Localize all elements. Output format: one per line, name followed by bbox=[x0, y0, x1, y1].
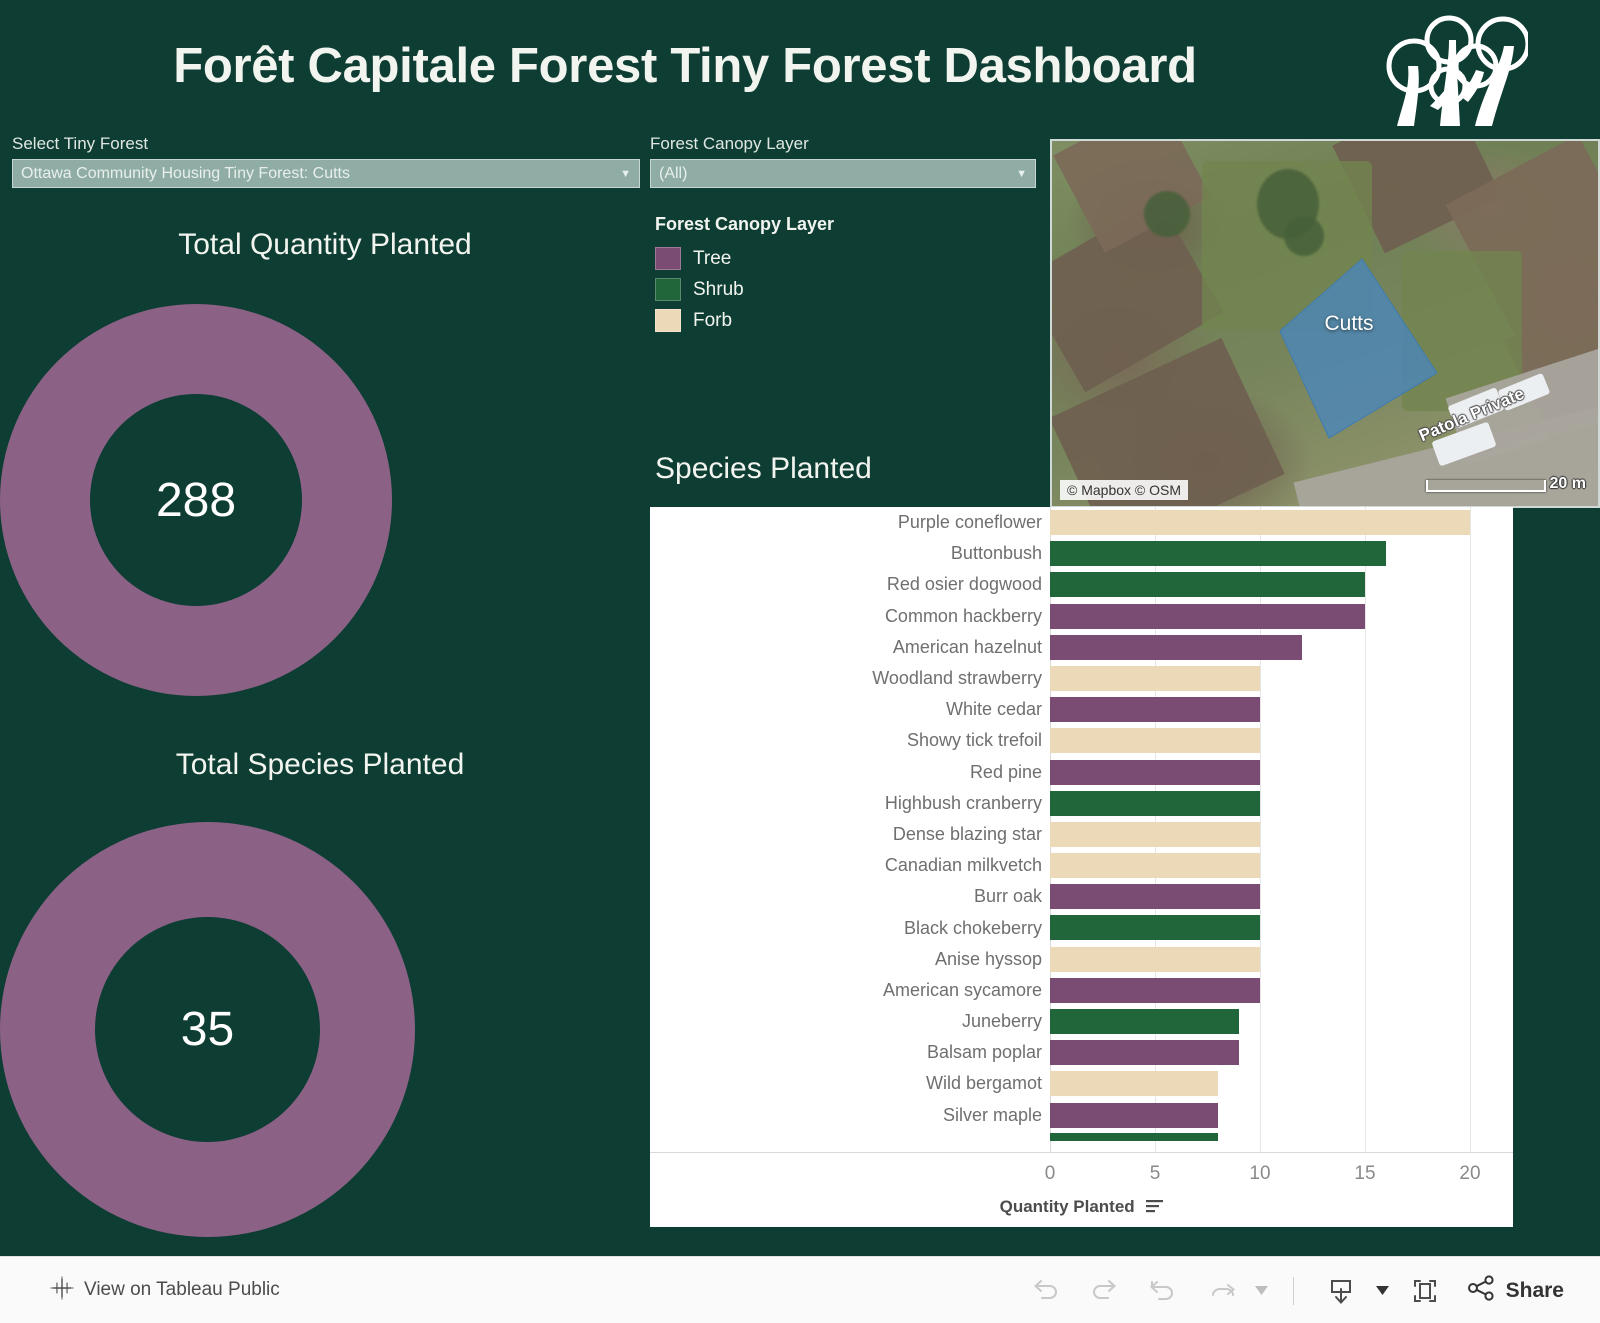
refresh-icon[interactable] bbox=[1191, 1266, 1249, 1316]
bar-shrub[interactable] bbox=[1050, 791, 1260, 816]
bar-category-label: Common hackberry bbox=[650, 606, 1050, 627]
download-icon[interactable] bbox=[1312, 1266, 1370, 1316]
bar-category-label: Balsam poplar bbox=[650, 1042, 1050, 1063]
x-tick-20: 20 bbox=[1459, 1163, 1480, 1185]
bar-forb[interactable] bbox=[1050, 510, 1470, 535]
donut-ring: 288 bbox=[0, 304, 392, 696]
sort-descending-icon[interactable] bbox=[1146, 1198, 1163, 1218]
bar-forb[interactable] bbox=[1050, 947, 1260, 972]
legend-swatch-icon bbox=[655, 278, 681, 301]
bar-category-label: American hazelnut bbox=[650, 637, 1050, 658]
bar-rows: Purple coneflowerButtonbushRed osier dog… bbox=[650, 507, 1513, 1131]
tiny-forest-filter-label: Select Tiny Forest bbox=[12, 134, 640, 154]
bar-row[interactable]: Showy tick trefoil bbox=[650, 725, 1513, 756]
bar-plot-area: Purple coneflowerButtonbushRed osier dog… bbox=[650, 507, 1513, 1152]
color-legend: Forest Canopy Layer TreeShrubForb bbox=[655, 214, 834, 336]
chevron-down-icon: ▼ bbox=[620, 168, 631, 180]
share-label: Share bbox=[1506, 1279, 1564, 1303]
map-attribution[interactable]: © Mapbox © OSM bbox=[1060, 480, 1188, 500]
bar-category-label: American sycamore bbox=[650, 980, 1050, 1001]
bar-row[interactable]: American hazelnut bbox=[650, 632, 1513, 663]
scalebar-line bbox=[1426, 480, 1546, 492]
share-button[interactable]: Share bbox=[1468, 1275, 1564, 1306]
kpi-value: 35 bbox=[181, 1002, 234, 1057]
bar-category-label: Highbush cranberry bbox=[650, 793, 1050, 814]
species-planted-bar-chart[interactable]: Purple coneflowerButtonbushRed osier dog… bbox=[650, 507, 1513, 1227]
canopy-layer-dropdown[interactable]: (All) ▼ bbox=[650, 159, 1036, 188]
bar-category-label: Wild bergamot bbox=[650, 1073, 1050, 1094]
tableau-logo-icon bbox=[50, 1276, 74, 1305]
bar-tree[interactable] bbox=[1050, 978, 1260, 1003]
bar-row[interactable]: Silver maple bbox=[650, 1100, 1513, 1131]
kpi-total-species-planted: Total Species Planted 35 bbox=[0, 748, 640, 1237]
view-on-tableau-public-button[interactable]: View on Tableau Public bbox=[50, 1276, 280, 1305]
bar-category-label: Buttonbush bbox=[650, 543, 1050, 564]
bar-category-label: Burr oak bbox=[650, 886, 1050, 907]
bar-shrub[interactable] bbox=[1050, 572, 1365, 597]
bar-row[interactable]: Juneberry bbox=[650, 1006, 1513, 1037]
legend-item-shrub[interactable]: Shrub bbox=[655, 274, 834, 305]
bar-row[interactable]: Red osier dogwood bbox=[650, 569, 1513, 600]
redo-icon[interactable] bbox=[1075, 1266, 1133, 1316]
legend-item-label: Shrub bbox=[693, 279, 744, 301]
bar-forb[interactable] bbox=[1050, 1071, 1218, 1096]
bar-row[interactable]: Buttonbush bbox=[650, 538, 1513, 569]
bar-tree[interactable] bbox=[1050, 1040, 1239, 1065]
tiny-forest-dropdown-value: Ottawa Community Housing Tiny Forest: Cu… bbox=[21, 165, 614, 183]
kpi-title: Total Species Planted bbox=[0, 748, 640, 782]
bar-row[interactable]: American sycamore bbox=[650, 975, 1513, 1006]
kpi-title: Total Quantity Planted bbox=[0, 228, 650, 262]
donut-chart-quantity[interactable]: 288 bbox=[0, 304, 650, 696]
bar-row[interactable]: Common hackberry bbox=[650, 601, 1513, 632]
canopy-layer-filter: Forest Canopy Layer (All) ▼ bbox=[650, 134, 1036, 188]
bar-row[interactable]: Highbush cranberry bbox=[650, 788, 1513, 819]
toolbar-actions: Share bbox=[1017, 1257, 1564, 1323]
bar-category-label: White cedar bbox=[650, 699, 1050, 720]
bar-category-label: Red osier dogwood bbox=[650, 574, 1050, 595]
legend-swatch-icon bbox=[655, 247, 681, 270]
bar-forb[interactable] bbox=[1050, 666, 1260, 691]
tiny-forest-trees-logo bbox=[1378, 14, 1528, 126]
bar-row[interactable]: Red pine bbox=[650, 757, 1513, 788]
species-chart-title: Species Planted bbox=[655, 452, 872, 486]
bar-category-label: Red pine bbox=[650, 762, 1050, 783]
x-axis-title-text: Quantity Planted bbox=[1000, 1197, 1135, 1216]
donut-hole: 288 bbox=[90, 394, 302, 606]
legend-title: Forest Canopy Layer bbox=[655, 214, 834, 235]
bar-row[interactable]: Burr oak bbox=[650, 881, 1513, 912]
bar-tree[interactable] bbox=[1050, 1103, 1218, 1128]
legend-item-tree[interactable]: Tree bbox=[655, 243, 834, 274]
legend-rows: TreeShrubForb bbox=[655, 243, 834, 336]
bar-clipped-partial[interactable] bbox=[1050, 1133, 1218, 1141]
x-tick-0: 0 bbox=[1045, 1163, 1056, 1185]
x-tick-10: 10 bbox=[1249, 1163, 1270, 1185]
download-chevron-down-icon[interactable] bbox=[1370, 1266, 1396, 1316]
x-axis-title: Quantity Planted bbox=[650, 1197, 1513, 1218]
bar-category-label: Juneberry bbox=[650, 1011, 1050, 1032]
bar-forb[interactable] bbox=[1050, 853, 1260, 878]
map-imagery: Cutts Patola Private bbox=[1052, 141, 1598, 506]
canopy-layer-dropdown-value: (All) bbox=[659, 165, 1010, 183]
bar-row[interactable]: Woodland strawberry bbox=[650, 663, 1513, 694]
fullscreen-icon[interactable] bbox=[1396, 1266, 1454, 1316]
bar-forb[interactable] bbox=[1050, 822, 1260, 847]
tableau-dashboard: Forêt Capitale Forest Tiny Forest Dashbo… bbox=[0, 0, 1600, 1323]
legend-item-forb[interactable]: Forb bbox=[655, 305, 834, 336]
bar-category-label: Canadian milkvetch bbox=[650, 855, 1050, 876]
map-scalebar: 20 m bbox=[1426, 476, 1586, 492]
bar-forb[interactable] bbox=[1050, 728, 1260, 753]
bar-row[interactable]: Purple coneflower bbox=[650, 507, 1513, 538]
kpi-total-quantity-planted: Total Quantity Planted 288 bbox=[0, 228, 650, 696]
view-on-tableau-public-label: View on Tableau Public bbox=[84, 1279, 280, 1301]
bar-tree[interactable] bbox=[1050, 697, 1260, 722]
chevron-down-icon: ▼ bbox=[1016, 168, 1027, 180]
bar-tree[interactable] bbox=[1050, 604, 1365, 629]
bar-category-label: Dense blazing star bbox=[650, 824, 1050, 845]
chevron-down-icon[interactable] bbox=[1249, 1266, 1275, 1316]
bar-category-label: Purple coneflower bbox=[650, 512, 1050, 533]
bar-category-label: Woodland strawberry bbox=[650, 668, 1050, 689]
bar-category-label: Showy tick trefoil bbox=[650, 730, 1050, 751]
bar-row[interactable]: Black chokeberry bbox=[650, 912, 1513, 943]
bar-category-label: Silver maple bbox=[650, 1105, 1050, 1126]
bar-row[interactable]: Dense blazing star bbox=[650, 819, 1513, 850]
legend-item-label: Forb bbox=[693, 310, 732, 332]
bar-tree[interactable] bbox=[1050, 635, 1302, 660]
donut-ring: 35 bbox=[0, 822, 415, 1237]
donut-chart-species[interactable]: 35 bbox=[0, 822, 640, 1237]
toolbar-divider bbox=[1293, 1277, 1294, 1305]
bar-row[interactable]: Wild bergamot bbox=[650, 1068, 1513, 1099]
x-axis: 05101520 Quantity Planted bbox=[650, 1152, 1513, 1227]
bar-row[interactable]: White cedar bbox=[650, 694, 1513, 725]
page-title: Forêt Capitale Forest Tiny Forest Dashbo… bbox=[0, 38, 1370, 94]
bottom-toolbar: View on Tableau Public bbox=[0, 1256, 1600, 1323]
revert-icon[interactable] bbox=[1133, 1266, 1191, 1316]
donut-hole: 35 bbox=[95, 917, 320, 1142]
share-icon bbox=[1468, 1275, 1496, 1306]
x-tick-15: 15 bbox=[1354, 1163, 1375, 1185]
bar-shrub[interactable] bbox=[1050, 1009, 1239, 1034]
dashboard-header: Forêt Capitale Forest Tiny Forest Dashbo… bbox=[0, 0, 1600, 132]
bar-row[interactable]: Anise hyssop bbox=[650, 944, 1513, 975]
satellite-map[interactable]: Cutts Patola Private © Mapbox © OSM 20 m bbox=[1050, 139, 1600, 508]
bar-category-label: Black chokeberry bbox=[650, 918, 1050, 939]
bar-shrub[interactable] bbox=[1050, 541, 1386, 566]
scalebar-text: 20 m bbox=[1550, 476, 1586, 492]
undo-icon[interactable] bbox=[1017, 1266, 1075, 1316]
x-tick-5: 5 bbox=[1150, 1163, 1161, 1185]
bar-category-label: Anise hyssop bbox=[650, 949, 1050, 970]
bar-row[interactable]: Canadian milkvetch bbox=[650, 850, 1513, 881]
tiny-forest-filter: Select Tiny Forest Ottawa Community Hous… bbox=[12, 134, 640, 188]
bar-tree[interactable] bbox=[1050, 884, 1260, 909]
bar-tree[interactable] bbox=[1050, 760, 1260, 785]
legend-item-label: Tree bbox=[693, 248, 731, 270]
canopy-layer-filter-label: Forest Canopy Layer bbox=[650, 134, 1036, 154]
legend-swatch-icon bbox=[655, 309, 681, 332]
bar-row[interactable]: Balsam poplar bbox=[650, 1037, 1513, 1068]
tiny-forest-dropdown[interactable]: Ottawa Community Housing Tiny Forest: Cu… bbox=[12, 159, 640, 188]
kpi-value: 288 bbox=[156, 473, 236, 528]
bar-shrub[interactable] bbox=[1050, 915, 1260, 940]
